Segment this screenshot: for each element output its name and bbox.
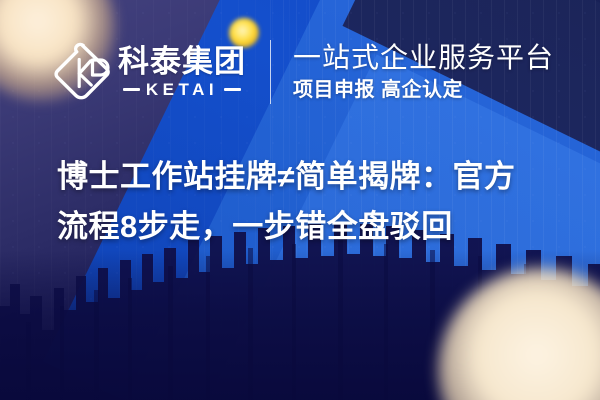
tagline-sub: 项目申报 高企认定 [293,78,554,102]
brand-rule-left-icon [123,88,140,91]
brand-wordmark: 科泰集团 KETAI [118,46,246,99]
brand-rule-right-icon [224,88,241,91]
promo-banner: 科泰集团 KETAI 一站式企业服务平台 项目申报 高企认定 博士工作站挂牌≠简… [0,0,600,400]
tagline-block: 一站式企业服务平台 项目申报 高企认定 [293,42,554,101]
headline-block: 博士工作站挂牌≠简单揭牌：官方 流程8步走，一步错全盘驳回 [57,152,557,252]
bottom-vignette [0,250,600,400]
brand-header: 科泰集团 KETAI 一站式企业服务平台 项目申报 高企认定 [52,40,554,104]
brand-name-en: KETAI [146,81,218,98]
headline-line-1: 博士工作站挂牌≠简单揭牌：官方 [57,152,557,202]
brand-name-cn: 科泰集团 [118,46,246,79]
ketai-diamond-k-logo-icon [52,41,112,103]
glow-orb-bottom-right [438,268,600,400]
tagline-main: 一站式企业服务平台 [293,42,554,73]
header-divider [270,40,271,104]
headline-line-2: 流程8步走，一步错全盘驳回 [57,202,557,252]
brand-name-en-row: KETAI [123,81,241,98]
